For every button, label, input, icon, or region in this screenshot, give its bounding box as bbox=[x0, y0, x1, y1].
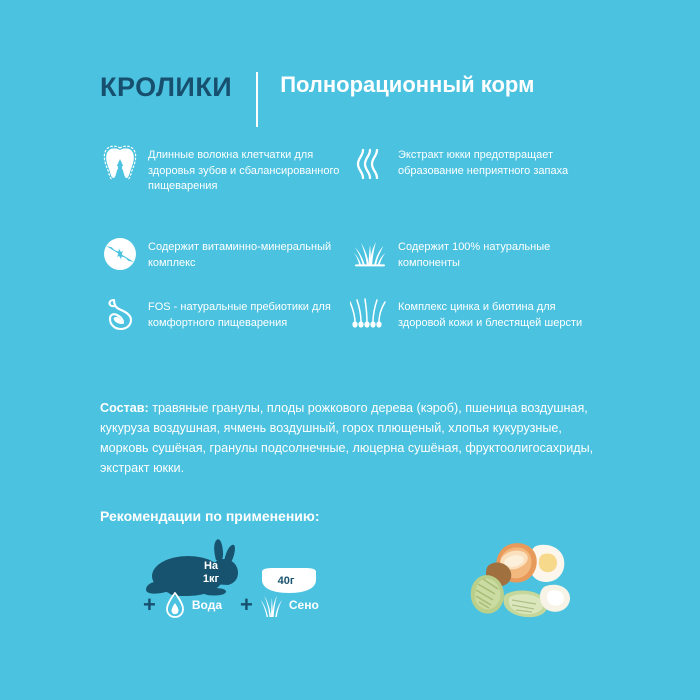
features-grid: Длинные волокна клетчатки для здоровья з… bbox=[100, 145, 610, 367]
addons-row: + Вода + bbox=[143, 592, 337, 618]
recommendations-title: Рекомендации по применению: bbox=[100, 508, 320, 524]
feature-text: Комплекс цинка и биотина для здоровой ко… bbox=[398, 297, 600, 331]
addon-water: + Вода bbox=[143, 592, 222, 618]
feature-text: Длинные волокна клетчатки для здоровья з… bbox=[148, 145, 350, 195]
feature-row: Длинные волокна клетчатки для здоровья з… bbox=[100, 145, 610, 237]
feature-text: Содержит витаминно-минеральный комплекс bbox=[148, 237, 350, 271]
header-divider bbox=[256, 72, 258, 127]
feature-text: Экстракт юкки предотвращает образование … bbox=[398, 145, 600, 179]
feature-item-vitamins: Содержит витаминно-минеральный комплекс bbox=[100, 237, 350, 297]
header-subtitle: Полнорационный корм bbox=[280, 70, 550, 100]
composition-paragraph: Состав: травяные гранулы, плоды рожковог… bbox=[100, 398, 610, 478]
addon-label: Сено bbox=[289, 598, 319, 612]
feature-item-yucca: Экстракт юкки предотвращает образование … bbox=[350, 145, 600, 237]
water-drop-icon bbox=[163, 592, 187, 618]
feature-item-fiber: Длинные волокна клетчатки для здоровья з… bbox=[100, 145, 350, 237]
hair-follicle-icon bbox=[350, 297, 390, 337]
header: КРОЛИКИ Полнорационный корм bbox=[100, 70, 550, 127]
hay-grass-icon bbox=[260, 592, 284, 618]
feature-row: FOS - натуральные пребиотики для комфорт… bbox=[100, 297, 610, 367]
product-label-page: КРОЛИКИ Полнорационный корм Длинные воло… bbox=[0, 0, 700, 700]
page-title: КРОЛИКИ bbox=[100, 70, 232, 104]
dried-food-pieces-photo bbox=[462, 534, 582, 624]
plus-icon: + bbox=[143, 594, 156, 616]
feature-item-zinc-biotin: Комплекс цинка и биотина для здоровой ко… bbox=[350, 297, 600, 367]
composition-label: Состав: bbox=[100, 401, 149, 415]
aperture-icon bbox=[100, 237, 140, 277]
addon-label: Вода bbox=[192, 598, 222, 612]
composition-text: травяные гранулы, плоды рожкового дерева… bbox=[100, 401, 593, 475]
plus-icon: + bbox=[240, 594, 253, 616]
aroma-waves-icon bbox=[350, 145, 390, 185]
feature-text: FOS - натуральные пребиотики для комфорт… bbox=[148, 297, 350, 331]
addon-hay: + Сено bbox=[240, 592, 319, 618]
feature-item-fos: FOS - натуральные пребиотики для комфорт… bbox=[100, 297, 350, 367]
feature-text: Содержит 100% натуральные компоненты bbox=[398, 237, 600, 271]
tooth-icon bbox=[100, 145, 140, 185]
feature-item-natural: Содержит 100% натуральные компоненты bbox=[350, 237, 600, 297]
grass-icon bbox=[350, 237, 390, 277]
feature-row: Содержит витаминно-минеральный комплекс bbox=[100, 237, 610, 297]
stomach-icon bbox=[100, 297, 140, 337]
